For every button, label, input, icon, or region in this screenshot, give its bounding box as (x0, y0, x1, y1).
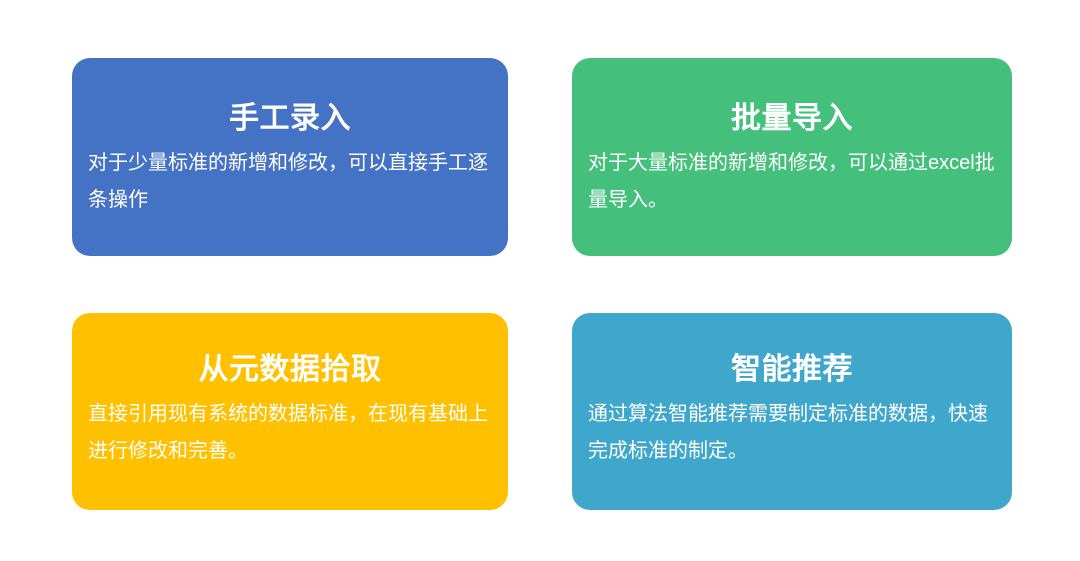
card-manual-entry[interactable]: 手工录入 对于少量标准的新增和修改，可以直接手工逐条操作 (72, 58, 508, 256)
card-title-smart-recommendation: 智能推荐 (588, 353, 996, 386)
card-smart-recommendation[interactable]: 智能推荐 通过算法智能推荐需要制定标准的数据，快速完成标准的制定。 (572, 313, 1012, 510)
card-body-manual-entry: 对于少量标准的新增和修改，可以直接手工逐条操作 (88, 145, 492, 219)
card-title-pick-from-metadata: 从元数据拾取 (88, 353, 492, 386)
card-content: 智能推荐 通过算法智能推荐需要制定标准的数据，快速完成标准的制定。 (572, 353, 1012, 470)
card-body-smart-recommendation: 通过算法智能推荐需要制定标准的数据，快速完成标准的制定。 (588, 396, 996, 470)
card-body-batch-import: 对于大量标准的新增和修改，可以通过excel批量导入。 (588, 145, 996, 219)
card-title-batch-import: 批量导入 (588, 102, 996, 135)
card-batch-import[interactable]: 批量导入 对于大量标准的新增和修改，可以通过excel批量导入。 (572, 58, 1012, 256)
card-content: 批量导入 对于大量标准的新增和修改，可以通过excel批量导入。 (572, 102, 1012, 219)
card-content: 手工录入 对于少量标准的新增和修改，可以直接手工逐条操作 (72, 102, 508, 219)
card-grid-board: 手工录入 对于少量标准的新增和修改，可以直接手工逐条操作 批量导入 对于大量标准… (0, 0, 1080, 561)
card-content: 从元数据拾取 直接引用现有系统的数据标准，在现有基础上进行修改和完善。 (72, 353, 508, 470)
card-pick-from-metadata[interactable]: 从元数据拾取 直接引用现有系统的数据标准，在现有基础上进行修改和完善。 (72, 313, 508, 510)
card-body-pick-from-metadata: 直接引用现有系统的数据标准，在现有基础上进行修改和完善。 (88, 396, 492, 470)
card-title-manual-entry: 手工录入 (88, 102, 492, 135)
